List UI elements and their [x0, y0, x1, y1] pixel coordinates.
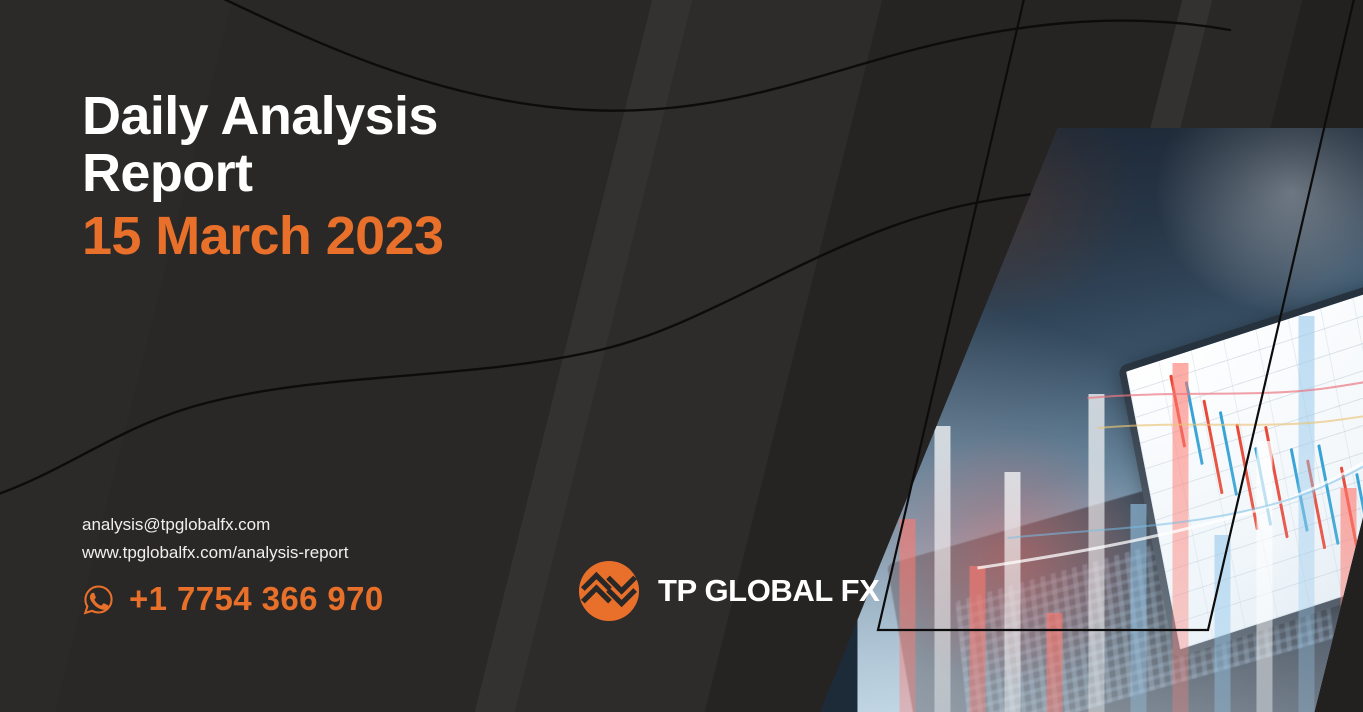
contact-email[interactable]: analysis@tpglobalfx.com: [82, 511, 348, 539]
page-title: Daily Analysis Report 15 March 2023: [82, 88, 443, 266]
tp-global-fx-logo-mark: [578, 560, 640, 622]
title-line-2: Report: [82, 145, 443, 202]
contact-website[interactable]: www.tpglobalfx.com/analysis-report: [82, 539, 348, 567]
daily-analysis-report-cover: Daily Analysis Report 15 March 2023 anal…: [0, 0, 1363, 712]
whatsapp-contact[interactable]: +1 7754 366 970: [82, 580, 384, 618]
title-line-1: Daily Analysis: [82, 88, 443, 145]
brand-name: TP GLOBAL FX: [658, 573, 879, 609]
phone-number: +1 7754 366 970: [129, 580, 384, 618]
whatsapp-icon: [82, 583, 115, 616]
report-date: 15 March 2023: [82, 208, 443, 265]
brand-logo: TP GLOBAL FX: [578, 560, 879, 622]
contact-details: analysis@tpglobalfx.com www.tpglobalfx.c…: [82, 511, 348, 566]
